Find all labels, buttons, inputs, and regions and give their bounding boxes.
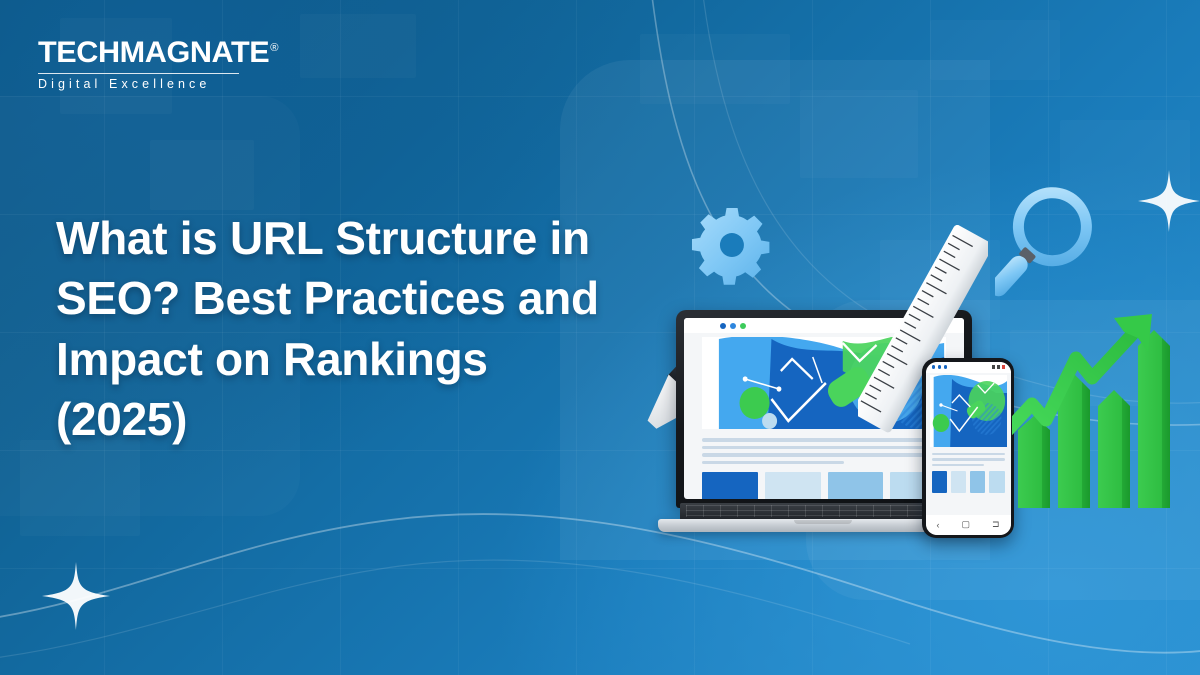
phone-tile-1	[932, 471, 948, 493]
phone-nav-bar[interactable]: ‹ ▢ ⊐	[926, 515, 1011, 535]
phone-screen: ‹ ▢ ⊐	[926, 362, 1011, 535]
banner-root: TECHMAGNATE® Digital Excellence What is …	[0, 0, 1200, 675]
phone-body: ‹ ▢ ⊐	[922, 358, 1014, 538]
growth-bar-chart	[1012, 312, 1180, 508]
laptop-notch	[794, 520, 852, 524]
magnifier-icon	[995, 186, 1113, 326]
screen-tile-2	[765, 472, 821, 499]
brand-logo-text: TECHMAGNATE	[38, 36, 269, 69]
sparkle-bottom-left-icon	[40, 560, 112, 632]
phone-tile-3	[970, 471, 986, 493]
screen-tile-1	[702, 472, 758, 499]
phone-mockup: ‹ ▢ ⊐	[922, 358, 1014, 538]
brand-logo[interactable]: TECHMAGNATE® Digital Excellence	[38, 38, 253, 91]
phone-signal-icon	[992, 365, 1005, 369]
phone-browser-dots-icon	[932, 365, 948, 369]
phone-status-bar	[926, 362, 1011, 373]
browser-dot-2-icon	[730, 323, 736, 329]
browser-dot-1-icon	[720, 323, 726, 329]
brand-logo-divider	[38, 73, 239, 74]
page-title: What is URL Structure in SEO? Best Pract…	[56, 208, 616, 449]
phone-hero-graphic	[930, 375, 1007, 447]
browser-dot-3-icon	[740, 323, 746, 329]
phone-tile-4	[989, 471, 1005, 493]
screen-tile-3	[828, 472, 884, 499]
brand-tagline: Digital Excellence	[38, 78, 253, 91]
registered-mark-icon: ®	[270, 42, 278, 54]
phone-nav-recents-icon[interactable]: ⊐	[992, 519, 1000, 530]
phone-tile-2	[951, 471, 967, 493]
brand-logo-wordmark: TECHMAGNATE®	[38, 38, 278, 68]
phone-text-lines	[932, 453, 1005, 467]
gear-icon	[682, 198, 778, 294]
hero-illustration: ‹ ▢ ⊐	[600, 150, 1200, 570]
screen-text-lines	[702, 438, 946, 464]
phone-nav-back-icon[interactable]: ‹	[936, 520, 939, 530]
screen-tiles	[702, 472, 946, 499]
phone-nav-home-icon[interactable]: ▢	[961, 519, 970, 530]
phone-tiles	[932, 471, 1005, 493]
